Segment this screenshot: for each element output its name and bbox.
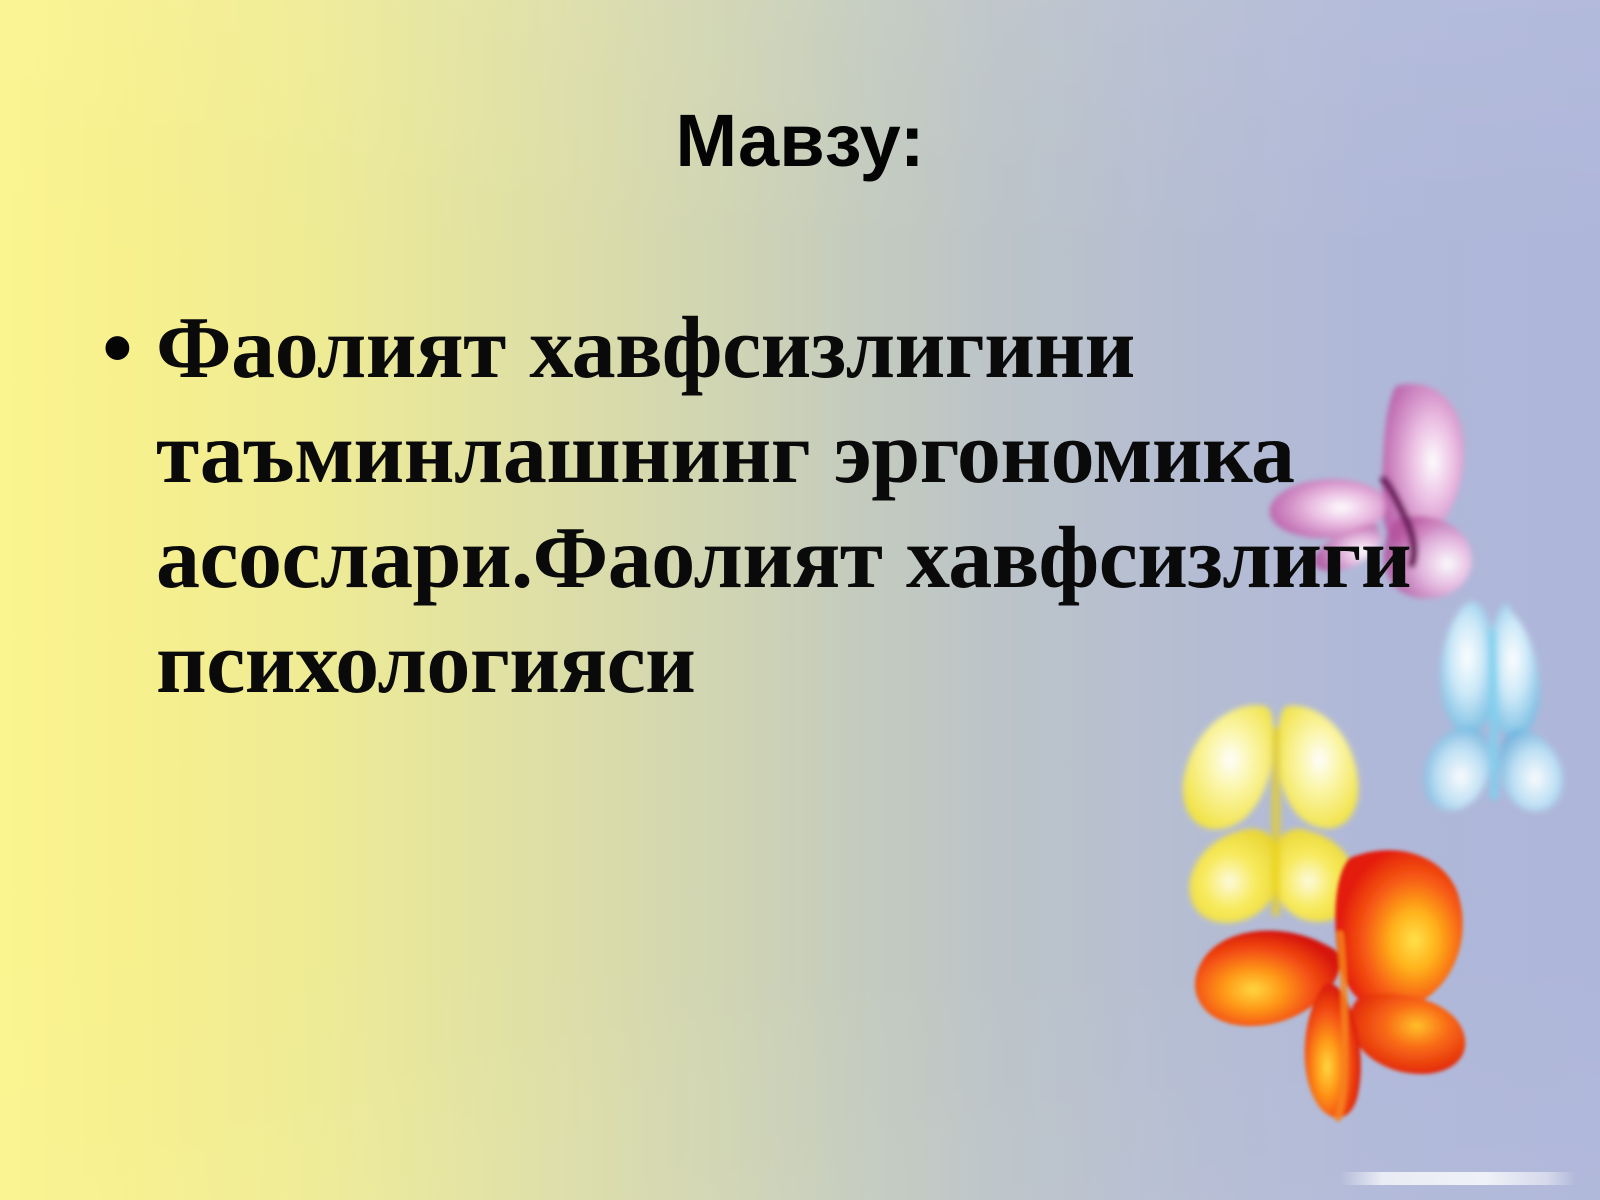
slide-title: Мавзу:: [0, 104, 1600, 178]
bullet-text: Фаолият хавфсизлигини таъминлашнинг эрго…: [156, 296, 1528, 716]
bullet-item: • Фаолият хавфсизлигини таъминлашнинг эр…: [88, 296, 1528, 716]
light-streak-artifact: [1340, 1172, 1576, 1185]
presentation-slide: Мавзу: • Фаолият хавфсизлигини таъминлаш…: [0, 0, 1600, 1200]
red-butterfly-icon: [1168, 830, 1498, 1140]
bullet-marker: •: [88, 296, 156, 401]
slide-body: • Фаолият хавфсизлигини таъминлашнинг эр…: [88, 296, 1528, 716]
